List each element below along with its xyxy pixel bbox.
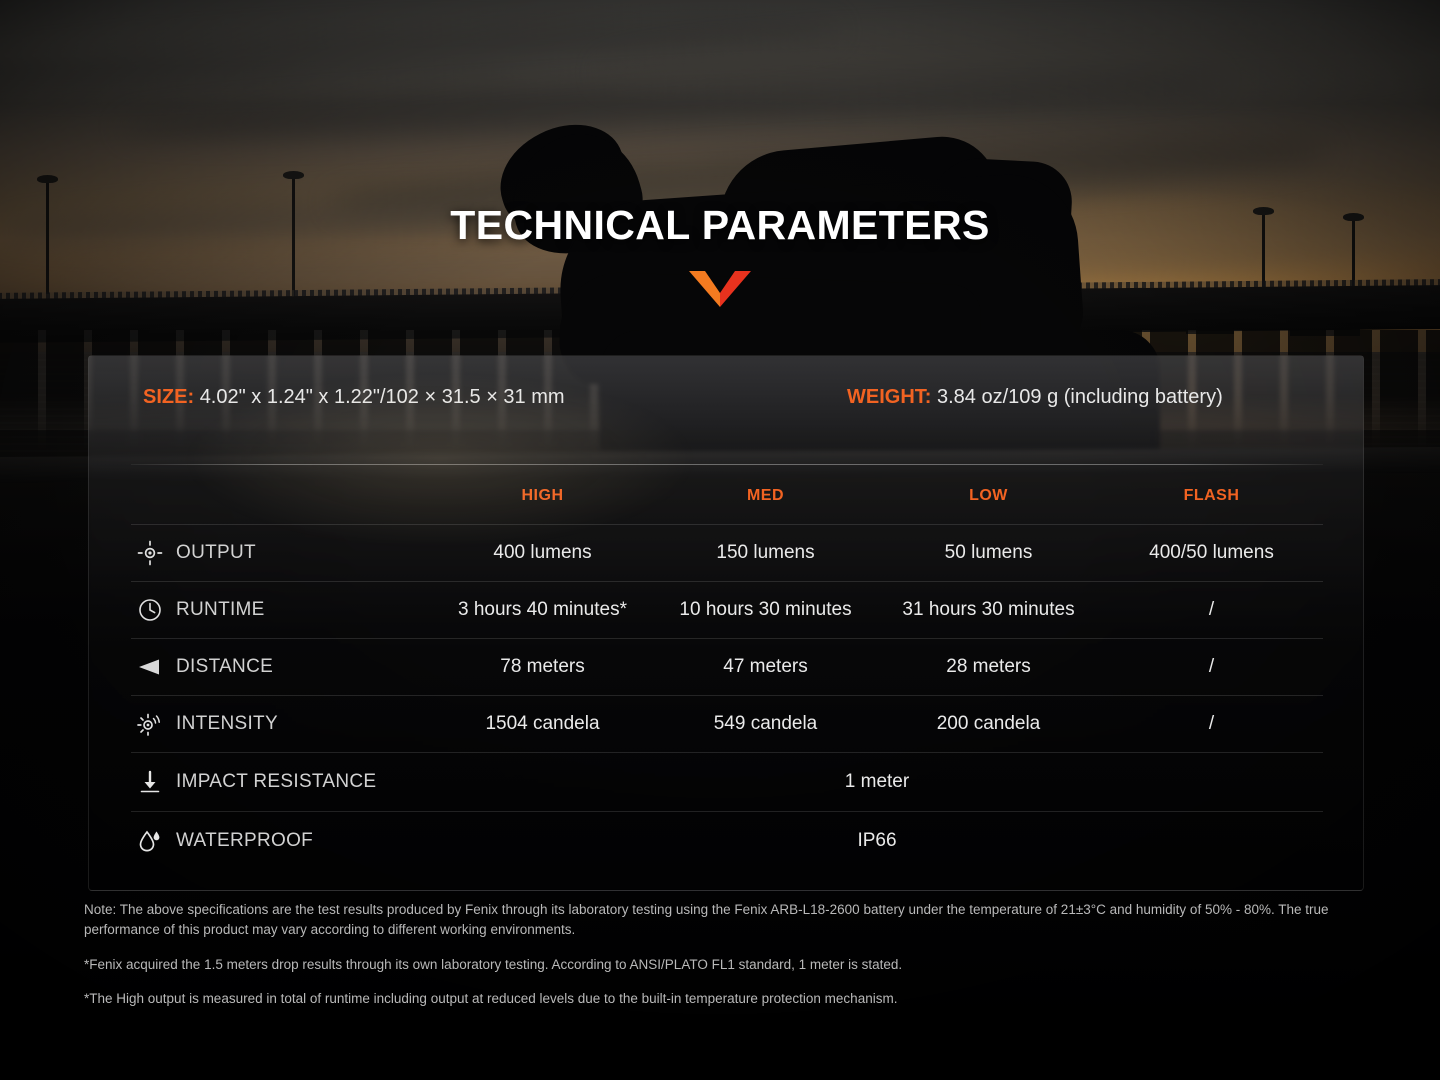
cell-distance-high: 78 meters bbox=[431, 638, 654, 695]
footnote-note: Note: The above specifications are the t… bbox=[84, 900, 1374, 941]
cell-waterproof-value: IP66 bbox=[431, 811, 1323, 870]
clock-icon bbox=[137, 597, 163, 623]
cell-runtime-med: 10 hours 30 minutes bbox=[654, 581, 877, 638]
specifications-panel: SIZE: 4.02" x 1.24" x 1.22"/102 × 31.5 ×… bbox=[88, 355, 1364, 891]
row-label-runtime: RUNTIME bbox=[131, 581, 431, 638]
weight-spec: WEIGHT: 3.84 oz/109 g (including battery… bbox=[847, 386, 1223, 409]
row-label-impact-resistance: IMPACT RESISTANCE bbox=[131, 752, 431, 811]
row-label-distance: DISTANCE bbox=[131, 638, 431, 695]
cell-runtime-low: 31 hours 30 minutes bbox=[877, 581, 1100, 638]
water-droplet-icon bbox=[137, 828, 163, 854]
cell-runtime-high: 3 hours 40 minutes* bbox=[431, 581, 654, 638]
footnotes: Note: The above specifications are the t… bbox=[84, 900, 1374, 1009]
footnote-output: *The High output is measured in total of… bbox=[84, 989, 1374, 1009]
cell-output-flash: 400/50 lumens bbox=[1100, 524, 1323, 581]
header-blank bbox=[131, 468, 431, 524]
row-label-text: WATERPROOF bbox=[176, 830, 313, 852]
cell-output-high: 400 lumens bbox=[431, 524, 654, 581]
impact-drop-arrow-icon bbox=[137, 769, 163, 795]
row-label-text: INTENSITY bbox=[176, 713, 278, 735]
page-title: TECHNICAL PARAMETERS bbox=[0, 202, 1440, 249]
row-label-output: OUTPUT bbox=[131, 524, 431, 581]
cell-distance-med: 47 meters bbox=[654, 638, 877, 695]
table-row: DISTANCE 78 meters 47 meters 28 meters / bbox=[131, 638, 1323, 695]
cell-intensity-flash: / bbox=[1100, 695, 1323, 752]
table-row: RUNTIME 3 hours 40 minutes* 10 hours 30 … bbox=[131, 581, 1323, 638]
footnote-drop: *Fenix acquired the 1.5 meters drop resu… bbox=[84, 955, 1374, 975]
size-value: 4.02" x 1.24" x 1.22"/102 × 31.5 × 31 mm bbox=[200, 386, 565, 408]
cell-output-low: 50 lumens bbox=[877, 524, 1100, 581]
size-weight-row: SIZE: 4.02" x 1.24" x 1.22"/102 × 31.5 ×… bbox=[89, 386, 1363, 426]
cell-output-med: 150 lumens bbox=[654, 524, 877, 581]
size-spec: SIZE: 4.02" x 1.24" x 1.22"/102 × 31.5 ×… bbox=[143, 386, 565, 409]
table-header-row: HIGH MED LOW FLASH bbox=[131, 468, 1323, 524]
weight-value: 3.84 oz/109 g (including battery) bbox=[937, 386, 1223, 408]
specs-table: HIGH MED LOW FLASH bbox=[131, 468, 1323, 870]
cell-intensity-med: 549 candela bbox=[654, 695, 877, 752]
row-label-text: DISTANCE bbox=[176, 656, 273, 678]
row-label-waterproof: WATERPROOF bbox=[131, 811, 431, 870]
brightness-sun-icon bbox=[137, 540, 163, 566]
size-label: SIZE: bbox=[143, 386, 194, 408]
table-row: OUTPUT 400 lumens 150 lumens 50 lumens 4… bbox=[131, 524, 1323, 581]
chevron-down-icon bbox=[689, 271, 751, 307]
beam-distance-icon bbox=[137, 654, 163, 680]
cell-distance-low: 28 meters bbox=[877, 638, 1100, 695]
row-label-text: RUNTIME bbox=[176, 599, 265, 621]
table-row: WATERPROOF IP66 bbox=[131, 811, 1323, 870]
header-divider bbox=[131, 464, 1323, 465]
cell-distance-flash: / bbox=[1100, 638, 1323, 695]
weight-label: WEIGHT: bbox=[847, 386, 931, 408]
table-row: IMPACT RESISTANCE 1 meter bbox=[131, 752, 1323, 811]
cell-intensity-high: 1504 candela bbox=[431, 695, 654, 752]
header-flash: FLASH bbox=[1100, 468, 1323, 524]
cell-intensity-low: 200 candela bbox=[877, 695, 1100, 752]
row-label-text: OUTPUT bbox=[176, 542, 256, 564]
cell-runtime-flash: / bbox=[1100, 581, 1323, 638]
table-row: INTENSITY 1504 candela 549 candela 200 c… bbox=[131, 695, 1323, 752]
title-block: TECHNICAL PARAMETERS bbox=[0, 202, 1440, 307]
header-high: HIGH bbox=[431, 468, 654, 524]
row-label-intensity: INTENSITY bbox=[131, 695, 431, 752]
header-med: MED bbox=[654, 468, 877, 524]
row-label-text: IMPACT RESISTANCE bbox=[176, 771, 376, 793]
cell-impact-resistance-value: 1 meter bbox=[431, 752, 1323, 811]
light-intensity-icon bbox=[137, 711, 163, 737]
header-low: LOW bbox=[877, 468, 1100, 524]
